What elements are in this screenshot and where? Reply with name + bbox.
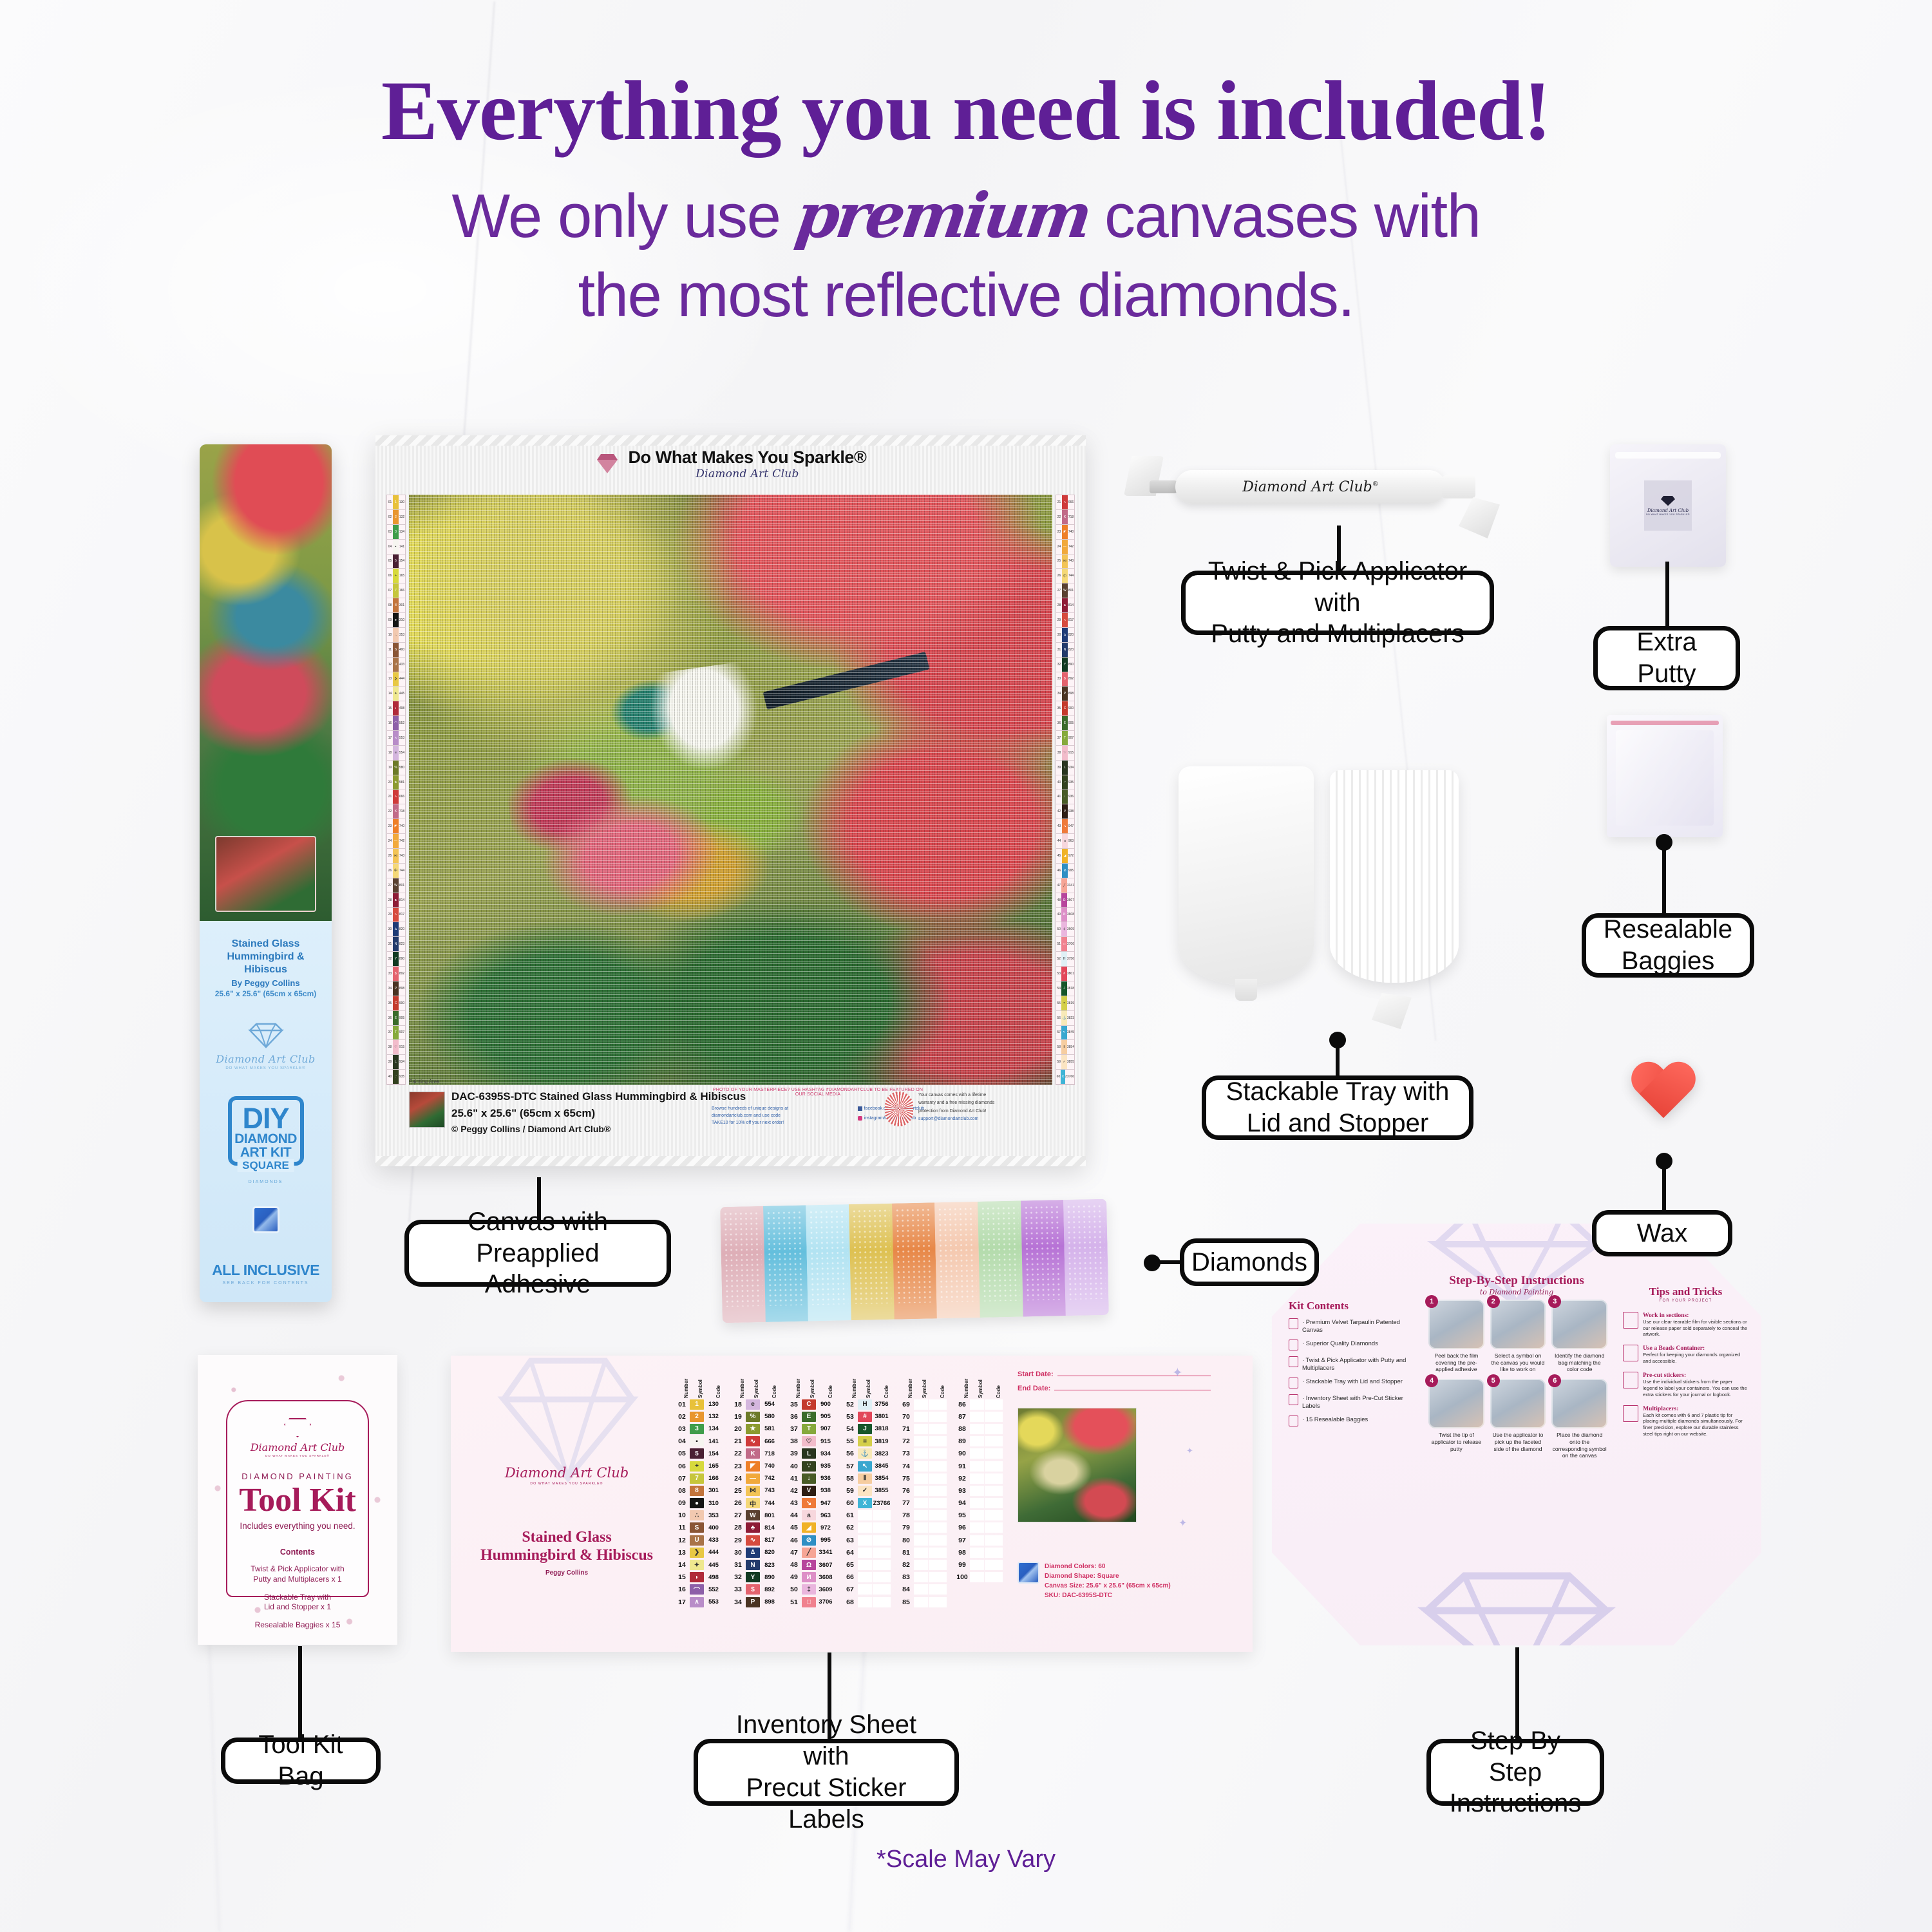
callout-resealable-baggies[interactable]: ResealableBaggies [1582,913,1754,978]
tip-text: Use our clear tearable film for visible … [1643,1319,1748,1338]
legend-row: 32Y890 [387,952,405,967]
diamond-icon [594,452,620,475]
legend-row: 52H3756 [1056,952,1074,967]
table-row: 40∵935 [787,1460,835,1472]
leader-line [1662,842,1666,913]
poster-inset-thumb [215,836,316,912]
wax-piece[interactable] [1629,1063,1700,1127]
legend-row: 21∿666 [1056,495,1074,510]
instagram-icon [858,1116,862,1121]
table-row: 22K718 [731,1448,779,1460]
step-caption: Select a symbol on the canvas you would … [1490,1352,1546,1373]
legend-row: 41↓936 [1056,790,1074,805]
table-row: 62 [843,1522,891,1534]
legend-row: 53#3801 [1056,967,1074,981]
table-row: 42V938 [787,1484,835,1497]
table-row: 43↘947 [787,1497,835,1510]
step-number: 5 [1487,1374,1500,1387]
table-row: 58⦀3854 [843,1472,891,1484]
tip-icon [1623,1345,1638,1361]
legend-row: 46⊘995 [1056,864,1074,878]
diamond-bag [1063,1199,1108,1316]
warranty-line-1: Your canvas comes with a lifetime [918,1092,994,1099]
table-row: 70 [899,1410,947,1423]
table-row: 81 [899,1546,947,1558]
meta-diamond-shape: Diamond Shape: Square [1045,1571,1171,1581]
tip-item: Multiplacers:Each kit comes with 6 and 7… [1623,1405,1748,1437]
table-row: 26中744 [731,1497,779,1510]
table-row: 93 [955,1484,1003,1497]
canvas-header: Do What Makes You Sparkle® Diamond Art C… [375,443,1086,484]
leader-dot [1656,1153,1672,1170]
table-row: 82 [899,1558,947,1571]
item-label: · Superior Quality Diamonds [1302,1340,1378,1347]
poster-brand: Diamond Art Club DO WHAT MAKES YOU SPARK… [209,1020,323,1070]
toolkit-contents-heading: Contents [235,1548,360,1557]
canvas-sku-title: DAC-6395S-DTC Stained Glass Hummingbird … [451,1090,746,1103]
toolkit-title: Tool Kit [235,1484,360,1517]
legend-row: 47╱3341 [1056,878,1074,893]
kit-contents-item: · 15 Resealable Baggies [1289,1416,1416,1426]
item-icon [1289,1378,1298,1388]
table-row: 04▪141 [675,1435,723,1448]
table-row: 53#3801 [843,1410,891,1423]
callout-applicator[interactable]: Twist & Pick Applicator withPutty and Mu… [1181,571,1494,635]
callout-extra-putty-line1: Extra [1636,628,1696,656]
subtitle-part-b: canvases with [1104,182,1480,251]
printed-canvas[interactable]: Do What Makes You Sparkle® Diamond Art C… [375,435,1086,1166]
callout-wax[interactable]: Wax [1592,1210,1732,1256]
diamond-icon [284,1418,311,1437]
table-row: 73 [899,1448,947,1460]
table-row: 61 [843,1510,891,1522]
table-row: 16⌒552 [675,1584,723,1596]
poster-brand-tagline: DO WHAT MAKES YOU SPARKLE® [209,1066,323,1070]
table-row: 99 [955,1558,1003,1571]
instruction-step: 1Peel back the film covering the pre-app… [1428,1300,1484,1373]
callout-applicator-line1: Twist & Pick Applicator with [1208,557,1467,617]
callout-tray-line1: Stackable Tray with [1226,1077,1450,1106]
tip-text: Each kit comes with 6 and 7 plastic tip … [1643,1412,1748,1437]
kit-contents-item: · Superior Quality Diamonds [1289,1340,1416,1350]
diamond-shape-sublabel: DIAMONDS [209,1180,323,1184]
table-row: 45◢972 [787,1522,835,1534]
step-caption: Twist the tip of applicator to release p… [1428,1432,1484,1452]
step-caption: Place the diamond onto the corresponding… [1551,1432,1607,1459]
sparkle-icon: ✦ [1179,1517,1187,1529]
legend-row: 45◢972 [1056,849,1074,864]
tray-lid [1179,766,1314,985]
gem-swatch-icon [1018,1562,1039,1584]
table-row: 31N823 [731,1558,779,1571]
legend-row: 06+165 [387,569,405,583]
callout-canvas-line1: Canvas with [468,1207,608,1236]
legend-row: 37T907 [1056,731,1074,746]
diamond-bag [934,1202,980,1318]
legend-row: 56⚓3823 [1056,1011,1074,1026]
legend-row: 26中744 [1056,569,1074,583]
legend-row: 26中744 [387,864,405,878]
table-row: 48Ω3607 [787,1558,835,1571]
legend-row: 30∆820 [1056,628,1074,643]
table-row: 18e554 [731,1398,779,1410]
table-row: 20★581 [731,1423,779,1435]
table-row: 38♡915 [787,1435,835,1448]
item-icon [1289,1356,1298,1367]
diy-badge: DIY DIAMOND ART KIT SQUARE [228,1096,304,1166]
inventory-artwork-thumbnail [1018,1408,1137,1522]
facebook-icon [858,1106,862,1111]
legend-row: 31N823 [387,937,405,952]
poster-title-line2: Hummingbird & Hibiscus [227,951,305,975]
diamond-bag [849,1204,894,1320]
legend-row: 27W801 [387,878,405,893]
diamond-grit [1023,1204,1063,1300]
twist-pick-applicator[interactable]: Diamond Art Club® [1124,451,1523,535]
table-row: 86 [955,1398,1003,1410]
diy-line3: ART KIT [234,1146,298,1159]
table-row: 84 [899,1584,947,1596]
leader-dot [1329,1032,1346,1048]
see-back-label: SEE BACK FOR CONTENTS [209,1281,323,1285]
canvas-bottom-edge [375,1156,1086,1166]
legend-row: 58⦀3854 [1056,1040,1074,1055]
callout-diamonds-label: Diamonds [1191,1247,1307,1278]
legend-row: 24—742 [1056,540,1074,554]
step-by-step-instructions-sheet[interactable]: Step-By-Step Instructions to Diamond Pai… [1272,1224,1761,1645]
bag-zipper [1615,452,1721,459]
step-number: 3 [1548,1295,1561,1308]
table-row: 66 [843,1571,891,1584]
legend-row: 38♡915 [387,1040,405,1055]
table-row: 088301 [675,1484,723,1497]
table-row: 033134 [675,1423,723,1435]
gem-swatch-icon [252,1206,279,1233]
kit-contents-item: · Stackable Tray with Lid and Stopper [1289,1378,1416,1388]
callout-tool-kit-bag[interactable]: Tool Kit Bag [221,1738,381,1784]
legend-row: 13❯444 [387,672,405,687]
legend-row: 21∿666 [387,790,405,805]
legend-row: 44a963 [1056,834,1074,849]
diamond-grit [938,1206,978,1302]
tray-stopper [1372,993,1412,1029]
applicator-brand-script: Diamond Art Club® [1242,479,1379,495]
table-row: 37T907 [787,1423,835,1435]
legend-column: NumberSymbolCode868788899091929394959697… [955,1365,1003,1608]
step-photo: 3 [1551,1300,1607,1349]
callout-tray-line2: Lid and Stopper [1247,1109,1428,1137]
table-row: 96 [955,1522,1003,1534]
canvas-artwork [409,495,1052,1085]
item-label: · Stackable Tray with Lid and Stopper [1302,1378,1403,1385]
legend-row: 28♣814 [387,893,405,908]
start-date-label: Start Date: [1018,1370,1054,1378]
legend-row: 23◤740 [387,819,405,834]
tip-text: Use the individual stickers from the pap… [1643,1379,1748,1398]
tip-title: Use a Beads Container: [1643,1345,1748,1352]
legend-row: 033134 [387,525,405,540]
table-row: 88 [955,1423,1003,1435]
table-row: 28♣814 [731,1522,779,1534]
canvas-copyright: © Peggy Collins / Diamond Art Club® [451,1124,611,1134]
inventory-brand-script: Diamond Art Club [470,1465,663,1481]
tray-base [1330,770,1459,983]
table-row: 12U433 [675,1534,723,1546]
promo-line-2: diamondartclub.com and use code [712,1112,788,1119]
sparkle-icon: ✦ [1172,1365,1183,1381]
item-icon [1289,1394,1298,1405]
legend-row: 54J3818 [1056,981,1074,996]
diy-label: DIY [234,1106,298,1132]
inventory-brand-tagline: DO WHAT MAKES YOU SPARKLE® [470,1482,663,1486]
table-row: 91 [955,1460,1003,1472]
item-icon [1289,1318,1298,1329]
diamond-grit [723,1211,762,1307]
tip-icon [1623,1405,1638,1422]
kit-contents-heading: Kit Contents [1289,1300,1416,1312]
callout-step-by-step[interactable]: Step By StepInstructions [1426,1739,1604,1806]
table-row: 10∴353 [675,1510,723,1522]
table-row: 49И3608 [787,1571,835,1584]
promo-line-3: TAKE10 for 10% off your next order! [712,1119,788,1126]
legend-row: 27W801 [1056,583,1074,598]
table-row: 29∿817 [731,1534,779,1546]
diamond-bag [892,1202,937,1319]
table-row: 30∆820 [731,1546,779,1558]
diamond-bag [1021,1200,1066,1316]
canvas-legend-strip-left: 01113002213203313404▪14105515406+1650771… [386,495,406,1085]
diamond-watermark-icon [1410,1568,1623,1645]
item-label: · Inventory Sheet with Pre-Cut Sticker L… [1302,1394,1416,1410]
warranty-seal-icon [885,1092,913,1126]
table-row: 55=3819 [843,1435,891,1448]
applicator-cap [1442,475,1475,498]
multiplacer-icon [1459,497,1500,538]
legend-row: 60XZ3766 [1056,1070,1074,1084]
table-row: 97 [955,1534,1003,1546]
diamond-bag [978,1201,1023,1318]
table-row: 56⚓3823 [843,1448,891,1460]
diamond-bag [763,1206,808,1322]
start-date-line[interactable] [1057,1368,1211,1376]
callout-toolkit-label: Tool Kit Bag [240,1729,362,1792]
extra-putty-pack[interactable]: Diamond Art Club DO WHAT MAKES YOU SPARK… [1610,444,1726,567]
steps-grid: 1Peel back the film covering the pre-app… [1428,1300,1607,1459]
page-title: Everything you need is included! [0,68,1932,155]
inventory-title: Stained GlassHummingbird & Hibiscus [470,1528,663,1565]
putty-label: Diamond Art Club DO WHAT MAKES YOU SPARK… [1644,480,1692,531]
legend-row: 39L934 [1056,761,1074,775]
applicator-body: Diamond Art Club® [1175,470,1446,504]
bag-body [1616,730,1714,826]
legend-row: 19%580 [387,761,405,775]
tool-kit-bag[interactable]: Diamond Art Club DO WHAT MAKES YOU SPARK… [198,1355,397,1645]
legend-row: 14✦445 [387,687,405,701]
toolkit-brand-script: Diamond Art Club [235,1441,360,1454]
legend-row: 33$892 [387,967,405,981]
stackable-tray-set[interactable] [1179,766,1488,1037]
end-date-row[interactable]: End Date: [1018,1383,1211,1392]
diamond-icon [1661,496,1675,506]
heart-icon [1629,1063,1698,1123]
canvas-legend-strip-right: 21∿66622K71823◤74024—74225⋈74326中74427W8… [1056,495,1075,1085]
tip-title: Multiplacers: [1643,1405,1748,1412]
legend-row: 18e554 [387,746,405,761]
painting-area-label: Painting Area [409,1079,440,1084]
item-icon [1289,1416,1298,1426]
canvas-footer-thumbnail [409,1092,445,1128]
tips-heading: Tips and Tricks [1623,1285,1748,1298]
legend-row: 15◗498 [387,701,405,716]
table-row: 34P898 [731,1596,779,1608]
table-row: 011130 [675,1398,723,1410]
table-row: 35C900 [787,1398,835,1410]
resealable-baggie[interactable] [1607,715,1723,837]
inventory-artist: Peggy Collins [470,1569,663,1577]
meta-sku: SKU: DAC-6395S-DTC [1045,1591,1171,1600]
meta-canvas-size: Canvas Size: 25.6" x 25.6" (65cm x 65cm) [1045,1581,1171,1591]
table-row: 25⋈743 [731,1484,779,1497]
table-row: 87 [955,1410,1003,1423]
table-row: 59✓3855 [843,1484,891,1497]
poster-artwork [200,444,332,921]
tip-item: Use a Beads Container:Perfect for keepin… [1623,1345,1748,1365]
table-row: 055154 [675,1448,723,1460]
legend-column: NumberSymbolCode01113002213203313404▪141… [675,1365,723,1608]
diamond-bag [720,1206,765,1323]
legend-row: 12U433 [387,658,405,672]
callout-canvas[interactable]: Canvas withPreapplied Adhesive [404,1220,671,1287]
legend-row: 011130 [387,495,405,510]
end-date-label: End Date: [1018,1385,1050,1392]
step-photo: 5 [1490,1379,1546,1428]
header-block: Everything you need is included! We only… [0,68,1932,335]
tip-icon [1623,1372,1638,1388]
page-subtitle: We only use premium canvases with the mo… [0,176,1932,336]
legend-row: 32Y890 [1056,658,1074,672]
canvas-size: 25.6" x 25.6" (65cm x 65cm) [451,1107,595,1120]
legend-row: 40∵935 [1056,775,1074,790]
symbol-legend-table: NumberSymbolCode01113002213203313404▪141… [675,1365,1003,1608]
tip-text: Perfect for keeping your diamonds organi… [1643,1352,1748,1365]
diamond-grit [895,1207,934,1303]
legend-row: 31N823 [1056,643,1074,658]
table-row: 64 [843,1546,891,1558]
legend-row: 22K718 [387,804,405,819]
diamond-grid-overlay [409,495,1052,1085]
diamond-bag [806,1204,851,1321]
diamond-grit [851,1208,891,1304]
tip-title: Work in sections: [1643,1312,1748,1319]
item-label: · 15 Resealable Baggies [1302,1416,1368,1423]
diy-line2: DIAMOND [234,1132,298,1146]
table-row: 27W801 [731,1510,779,1522]
legend-row: 42V938 [1056,804,1074,819]
table-row: 06+165 [675,1460,723,1472]
canvas-tagline: Do What Makes You Sparkle® [628,448,866,468]
kit-contents-item: · Inventory Sheet with Pre-Cut Sticker L… [1289,1394,1416,1410]
kit-contents-block: Kit Contents · Premium Velvet Tarpaulin … [1289,1300,1416,1432]
warranty-email[interactable]: support@diamondartclub.com [918,1115,994,1123]
table-row: 57↖3845 [843,1460,891,1472]
legend-row: 09●310 [387,613,405,628]
table-row: 54J3818 [843,1423,891,1435]
legend-row: 34P898 [387,981,405,996]
legend-row: 59✓3855 [1056,1055,1074,1070]
legend-row: 25⋈743 [1056,554,1074,569]
legend-row: 35C900 [387,996,405,1011]
table-row: 51□3706 [787,1596,835,1608]
instruction-step: 4Twist the tip of applicator to release … [1428,1379,1484,1459]
legend-row: 43↘947 [1056,819,1074,834]
leader-line [1665,562,1669,626]
legend-row: 40∵935 [387,1070,405,1084]
legend-row: 51□3706 [1056,937,1074,952]
table-row: 52H3756 [843,1398,891,1410]
legend-row: 11S400 [387,643,405,658]
canvas-brand-script: Diamond Art Club [628,468,866,480]
leader-dot [1656,834,1672,851]
legend-row: 088301 [387,598,405,613]
step-photo: 6 [1551,1379,1607,1428]
toolkit-eyebrow: DIAMOND PAINTING [235,1472,360,1481]
legend-column: NumberSymbolCode52H375653#380154J381855=… [843,1365,891,1608]
legend-row: 36E905 [387,1011,405,1026]
canvas-footer: Painting Area DAC-6395S-DTC Stained Glas… [409,1088,1052,1147]
instruction-step: 6Place the diamond onto the correspondin… [1551,1379,1607,1459]
item-icon [1289,1340,1298,1350]
all-inclusive-label: ALL INCLUSIVE [209,1262,323,1279]
table-row: 98 [955,1546,1003,1558]
inventory-sheet[interactable]: Diamond Art Club DO WHAT MAKES YOU SPARK… [451,1356,1253,1652]
table-row: 76 [899,1484,947,1497]
leader-line [298,1646,302,1738]
table-row: 19%580 [731,1410,779,1423]
meta-diamond-colors: Diamond Colors: 60 [1045,1562,1171,1571]
diamond-grit [766,1210,806,1306]
instruction-step: 3Identify the diamond bag matching the c… [1551,1300,1607,1373]
legend-row: 38♡915 [1056,746,1074,761]
callout-baggies-line1: Resealable [1604,915,1732,943]
callout-wax-label: Wax [1637,1218,1688,1249]
table-row: 13❯444 [675,1546,723,1558]
callout-inventory-sheet[interactable]: Inventory Sheet withPrecut Sticker Label… [694,1739,959,1806]
diamond-grit [809,1209,849,1305]
diamond-bag-bundle[interactable] [720,1199,1109,1323]
tip-title: Pre-cut stickers: [1643,1372,1748,1379]
table-row: 100 [955,1571,1003,1584]
table-row: 077166 [675,1472,723,1484]
bag-zipper [1611,721,1719,725]
table-row: 71 [899,1423,947,1435]
legend-row: 29∿817 [1056,613,1074,628]
rolled-canvas-package[interactable]: Stained Glass Hummingbird & Hibiscus By … [200,444,332,1302]
inventory-right-panel: Start Date: End Date: Diamond Colors: 60… [1018,1368,1211,1522]
legend-row: 57↖3845 [1056,1026,1074,1041]
legend-row: 30∆820 [387,922,405,937]
callout-steps-line1: Step By Step [1470,1727,1560,1786]
putty-brand-script: Diamond Art Club [1647,508,1689,513]
subtitle-part-a: We only use [452,182,781,251]
callout-extra-putty[interactable]: ExtraPutty [1593,626,1740,690]
legend-column: NumberSymbolCode18e55419%58020★58121∿666… [731,1365,779,1608]
table-row: 74 [899,1460,947,1472]
callout-stackable-tray[interactable]: Stackable Tray withLid and Stopper [1202,1075,1473,1140]
end-date-line[interactable] [1054,1383,1211,1390]
callout-diamonds[interactable]: Diamonds [1180,1238,1319,1286]
callout-canvas-line2: Preapplied Adhesive [476,1239,599,1299]
legend-row: 35C900 [1056,701,1074,716]
